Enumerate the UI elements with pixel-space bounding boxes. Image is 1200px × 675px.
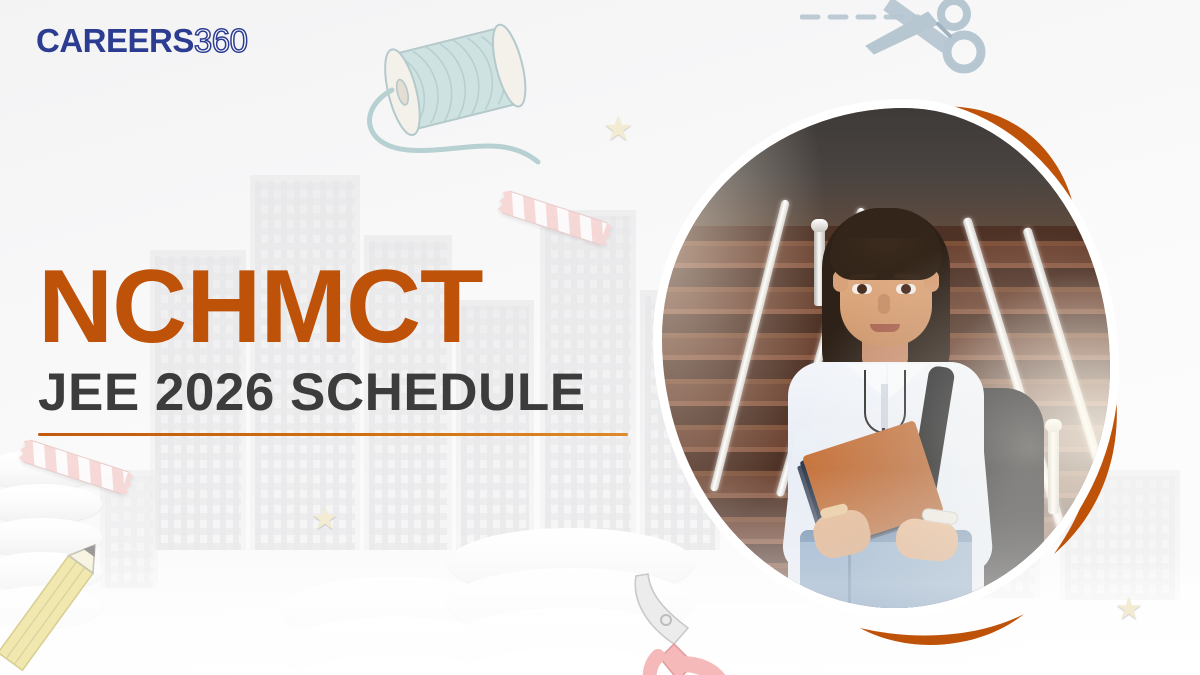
banner-root: CAREERS 360	[0, 0, 1200, 675]
star-icon-left: ★	[311, 503, 339, 534]
pencil-icon	[0, 528, 114, 675]
photo-frame	[640, 78, 1130, 638]
title-underline	[38, 433, 628, 436]
thread-spool-icon	[352, 22, 562, 177]
careers360-logo[interactable]: CAREERS 360	[36, 22, 247, 60]
photo-light-overlay	[662, 108, 1110, 608]
coin-stack-left	[0, 484, 102, 524]
title-block: NCHMCT JEE 2026 SCHEDULE	[38, 258, 638, 436]
student-photo	[662, 108, 1110, 608]
coin-stack-center	[280, 577, 512, 643]
page-title: NCHMCT	[38, 258, 638, 358]
logo-text-careers: CAREERS	[36, 22, 194, 60]
page-subtitle: JEE 2026 SCHEDULE	[38, 366, 638, 419]
coin-stack-center	[280, 617, 512, 675]
logo-text-360: 360	[194, 22, 248, 60]
washi-tape-left	[23, 440, 129, 495]
washi-tape-upper	[502, 191, 608, 246]
coin-stack-center	[280, 655, 512, 675]
